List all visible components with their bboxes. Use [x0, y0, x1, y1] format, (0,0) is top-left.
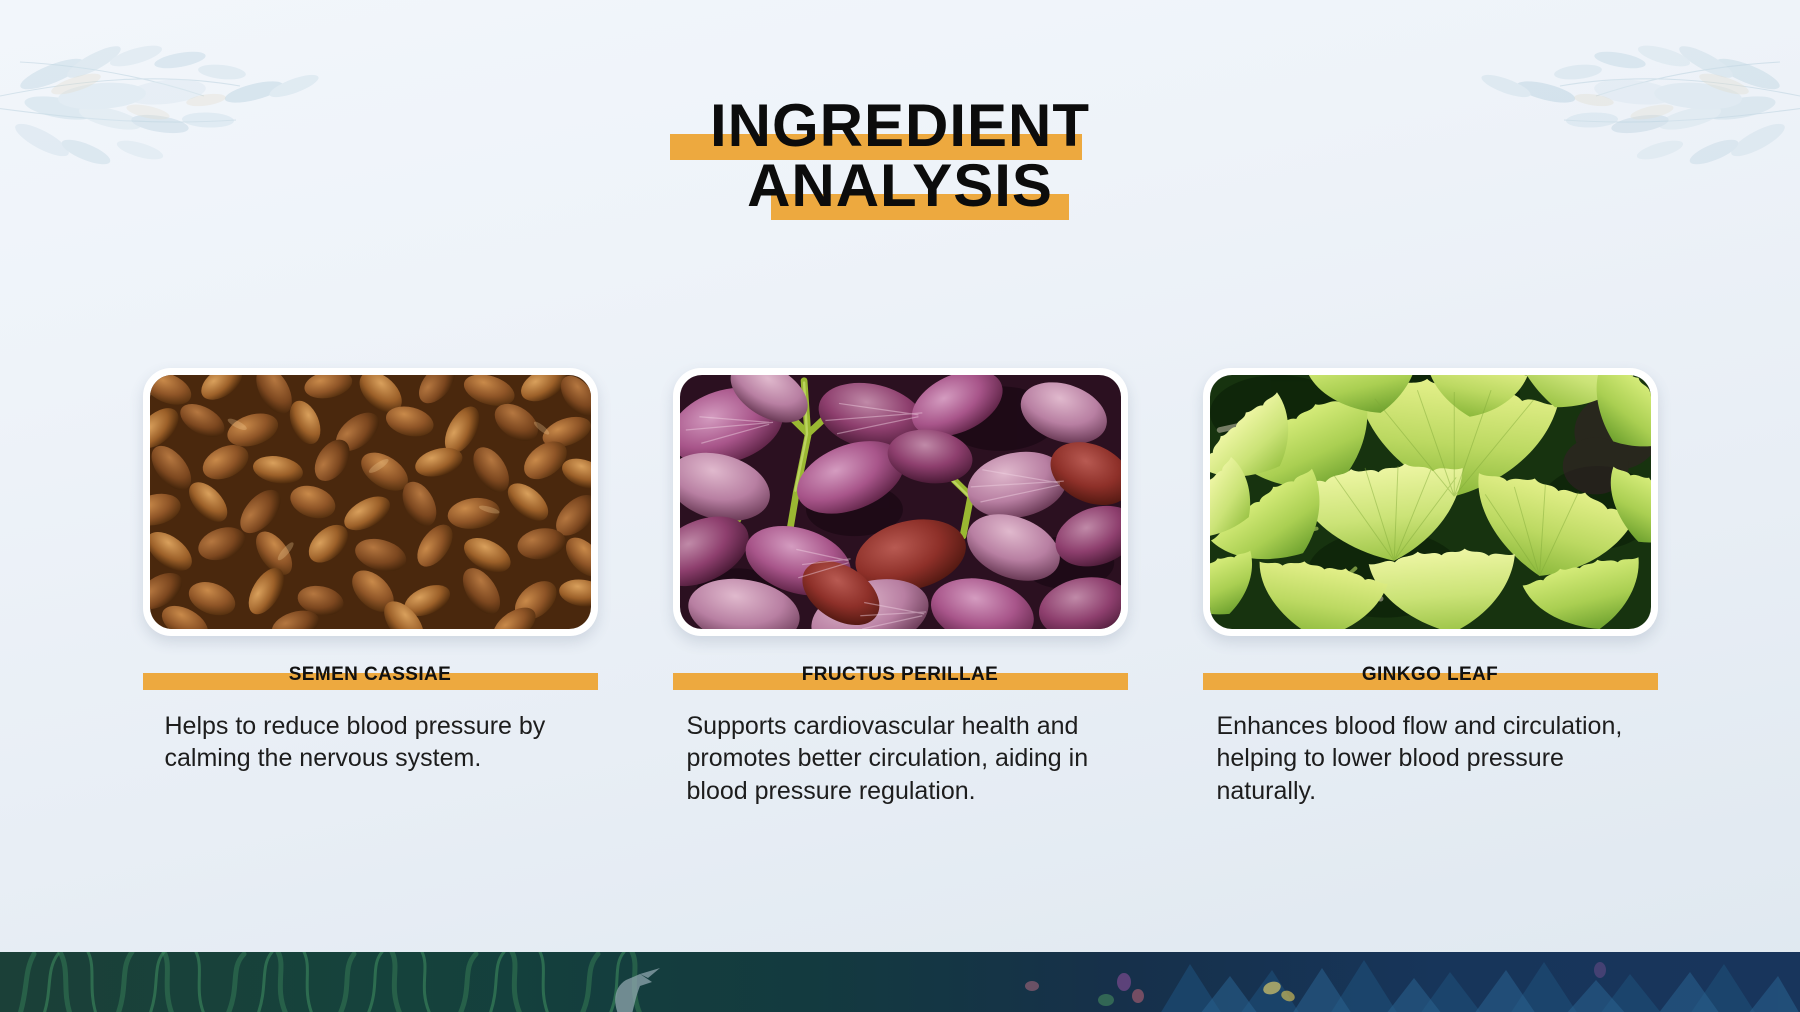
- cassia-seeds-photo: [143, 368, 598, 636]
- ingredient-label: SEMEN CASSIAE: [143, 658, 598, 692]
- title-line-1: INGREDIENT: [710, 96, 1090, 156]
- ingredient-description: Supports cardiovascular health and promo…: [673, 710, 1128, 807]
- ingredient-card: GINKGO LEAF Enhances blood flow and circ…: [1203, 368, 1658, 807]
- slide-canvas: INGREDIENT ANALYSIS: [0, 0, 1800, 1012]
- ingredient-label: GINKGO LEAF: [1203, 658, 1658, 692]
- ingredient-name: SEMEN CASSIAE: [289, 664, 452, 686]
- foliage-band-icon: [0, 952, 1800, 1012]
- ingredient-label: FRUCTUS PERILLAE: [673, 658, 1128, 692]
- title-line-2-text: ANALYSIS: [747, 152, 1053, 219]
- ingredient-name: FRUCTUS PERILLAE: [802, 664, 998, 686]
- ingredient-name: GINKGO LEAF: [1362, 664, 1498, 686]
- perilla-leaves-photo: [673, 368, 1128, 636]
- page-title: INGREDIENT ANALYSIS: [0, 96, 1800, 216]
- title-line-2: ANALYSIS: [747, 156, 1053, 216]
- ingredient-description: Enhances blood flow and circulation, hel…: [1203, 710, 1658, 807]
- ingredient-cards-row: SEMEN CASSIAE Helps to reduce blood pres…: [0, 368, 1800, 807]
- title-line-1-text: INGREDIENT: [710, 92, 1090, 159]
- ingredient-card: SEMEN CASSIAE Helps to reduce blood pres…: [143, 368, 598, 807]
- ingredient-card: FRUCTUS PERILLAE Supports cardiovascular…: [673, 368, 1128, 807]
- ginkgo-leaves-photo: [1203, 368, 1658, 636]
- ingredient-description: Helps to reduce blood pressure by calmin…: [143, 710, 598, 775]
